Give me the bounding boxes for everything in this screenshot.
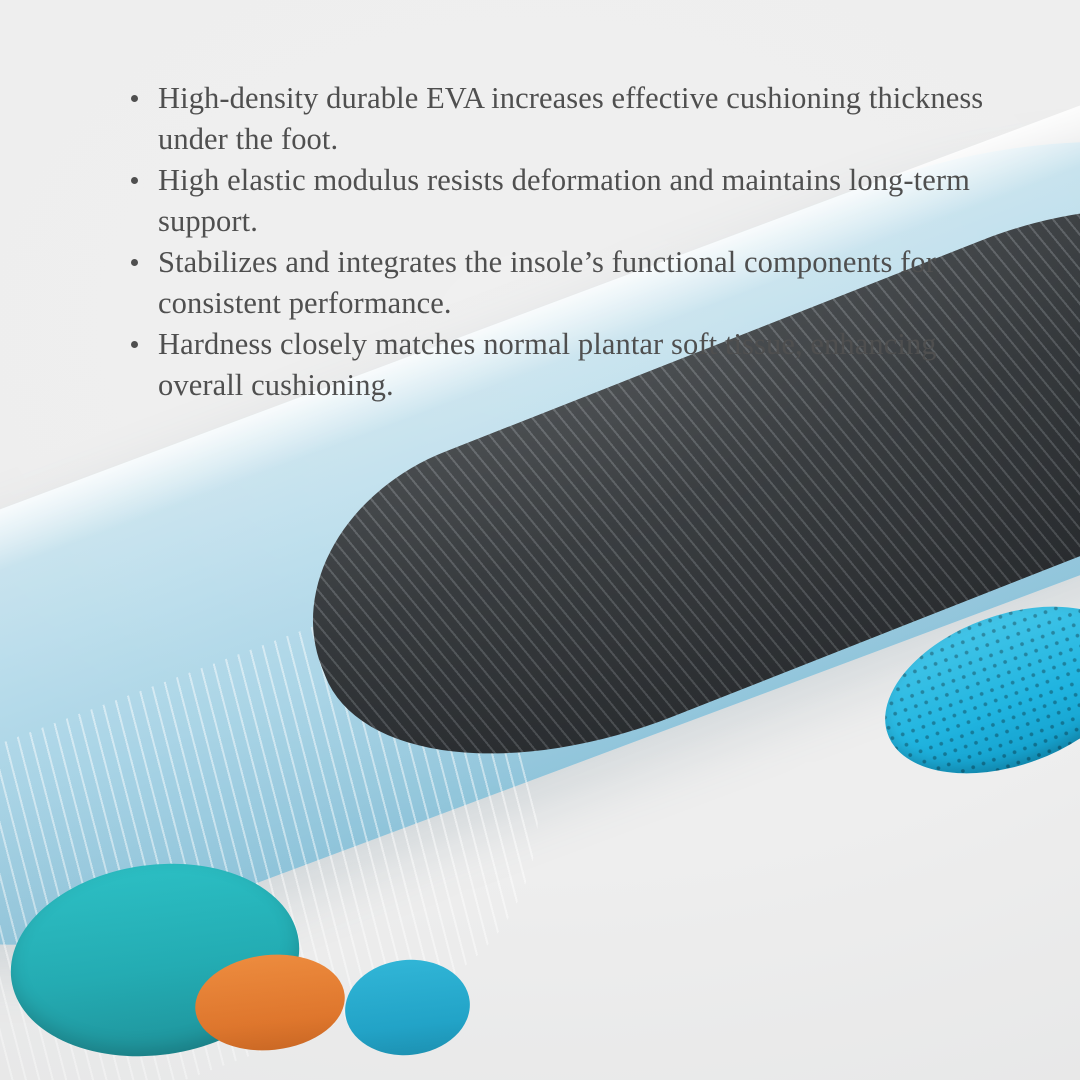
bullet-dot-icon [131, 259, 138, 266]
list-item: Stabilizes and integrates the insole’s f… [120, 242, 990, 324]
bullet-dot-icon [131, 177, 138, 184]
list-item: High-density durable EVA increases effec… [120, 78, 990, 160]
list-item: Hardness closely matches normal plantar … [120, 324, 990, 406]
bullet-text: High elastic modulus resists deformation… [158, 163, 970, 238]
bullet-dot-icon [131, 95, 138, 102]
bullet-text: Hardness closely matches normal plantar … [158, 327, 937, 402]
bullet-text: High-density durable EVA increases effec… [158, 81, 983, 156]
feature-bullet-list: High-density durable EVA increases effec… [120, 78, 990, 406]
list-item: High elastic modulus resists deformation… [120, 160, 990, 242]
product-feature-card: High-density durable EVA increases effec… [0, 0, 1080, 1080]
bullet-dot-icon [131, 341, 138, 348]
bullet-text: Stabilizes and integrates the insole’s f… [158, 245, 936, 320]
